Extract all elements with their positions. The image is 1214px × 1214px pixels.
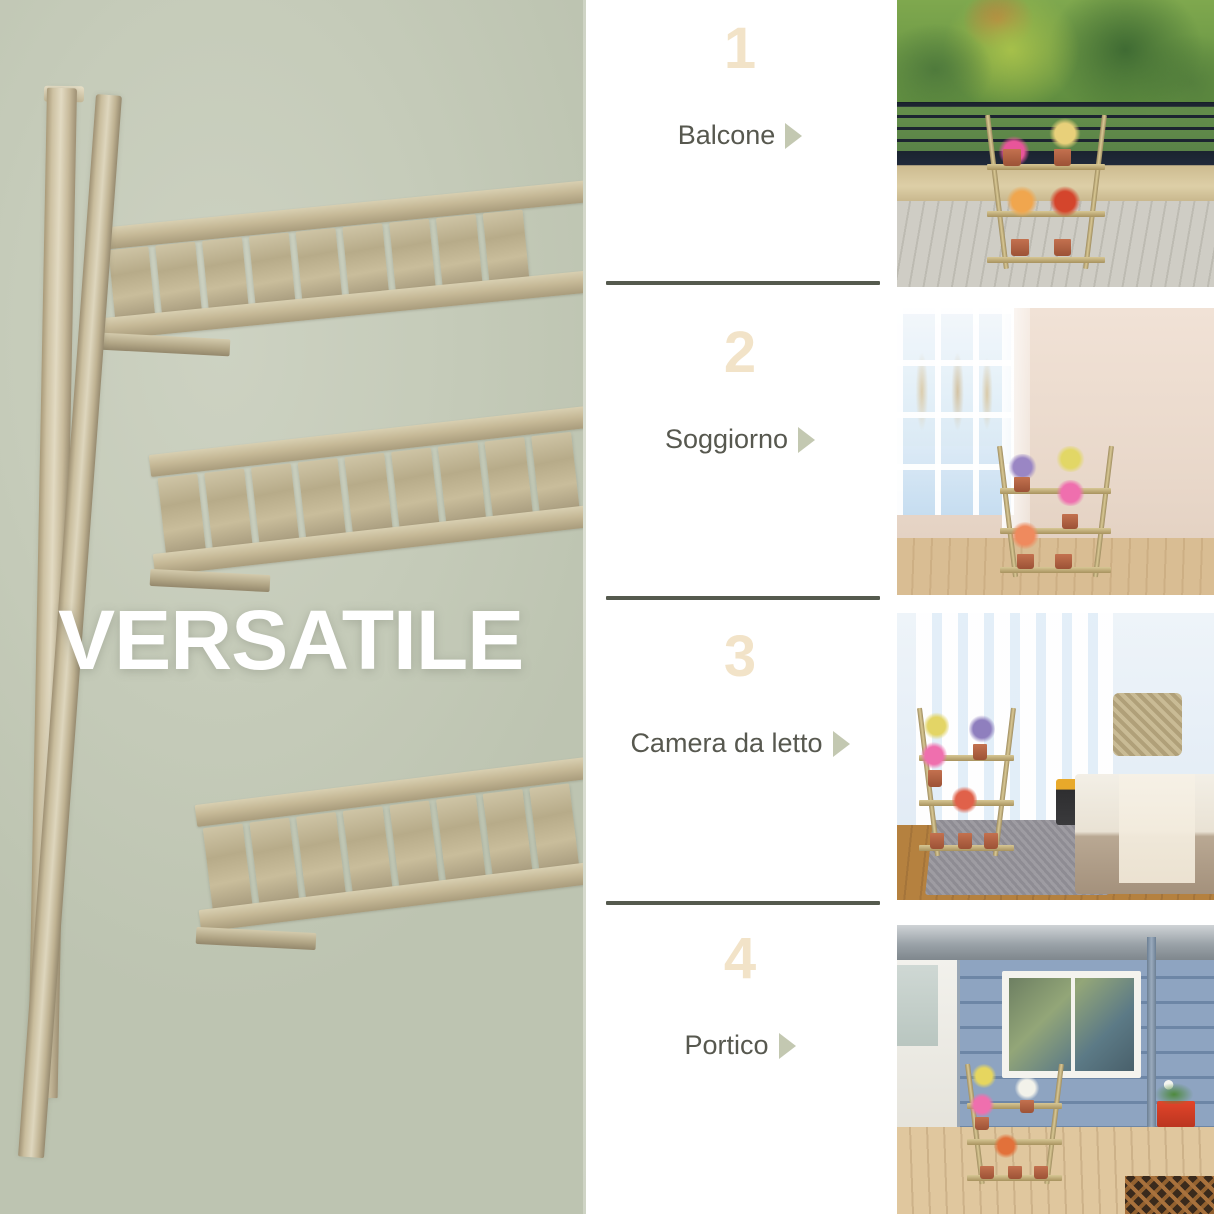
mini-leg: [1093, 445, 1114, 577]
usage-photo-column: [897, 0, 1214, 1214]
mini-pot: [1034, 1166, 1048, 1179]
slat: [155, 242, 202, 318]
mini-pot: [1003, 149, 1020, 166]
planter-foliage: [1147, 1072, 1201, 1104]
usage-label: Balcone: [678, 120, 776, 151]
slat: [158, 474, 207, 558]
slat: [251, 463, 300, 547]
usage-number: 2: [583, 324, 897, 382]
armchair: [1113, 693, 1183, 756]
hero-headline: VERSATILE: [58, 592, 523, 689]
mini-pot: [928, 770, 942, 786]
mini-flower: [969, 1093, 995, 1117]
mini-pot: [1054, 149, 1071, 166]
mini-pot: [930, 833, 944, 849]
slat: [391, 448, 440, 532]
mini-flower: [921, 741, 947, 771]
usage-row-4[interactable]: 4 Portico: [583, 910, 897, 1214]
mini-flower: [924, 711, 950, 741]
bed-throw: [1119, 774, 1195, 883]
usage-number: 3: [583, 628, 897, 686]
infographic-canvas: VERSATILE 1 Balcone 2 Soggiorno 3 Camera…: [0, 0, 1214, 1214]
stand-crossbar: [150, 569, 271, 592]
mini-plant-stand: [960, 1064, 1068, 1185]
mini-flower: [993, 1134, 1019, 1158]
stand-crossbar: [196, 927, 317, 950]
slat: [108, 246, 155, 322]
hero-product-panel: VERSATILE: [0, 0, 583, 1214]
slat: [342, 223, 389, 299]
mini-leg: [1083, 114, 1107, 268]
slat: [483, 789, 533, 879]
mini-flower: [1010, 522, 1040, 548]
mini-shelf: [987, 211, 1104, 217]
usage-label: Soggiorno: [665, 424, 788, 455]
slat: [436, 795, 486, 885]
slat: [389, 219, 436, 295]
mini-pot: [975, 1117, 989, 1130]
slat: [249, 818, 299, 908]
mini-plant-stand: [992, 446, 1119, 578]
mini-pot: [980, 1166, 994, 1179]
usage-photo-living-room[interactable]: [897, 308, 1214, 595]
mini-flower: [1014, 1076, 1040, 1100]
porch-roof: [897, 925, 1214, 960]
deck-lattice: [1125, 1176, 1214, 1214]
slat: [296, 812, 346, 902]
mini-pot: [1020, 1100, 1034, 1113]
usage-row-divider: [606, 281, 880, 285]
slat: [438, 442, 487, 526]
slat: [249, 233, 296, 309]
mini-pot: [1008, 1166, 1022, 1179]
mini-flower: [1055, 480, 1085, 506]
slat: [202, 237, 249, 313]
mini-flower: [1049, 118, 1081, 149]
play-triangle-right-icon: [785, 123, 802, 149]
mini-plant-stand: [979, 115, 1112, 270]
usage-photo-bedroom[interactable]: [897, 613, 1214, 900]
scene-bedroom: [897, 613, 1214, 900]
usage-photo-balcony[interactable]: [897, 0, 1214, 287]
slat: [344, 453, 393, 537]
play-triangle-right-icon: [833, 731, 850, 757]
mini-flower: [1006, 186, 1038, 217]
red-planter: [1157, 1101, 1195, 1127]
mini-pot: [1011, 239, 1028, 256]
mini-plant-stand: [913, 708, 1021, 857]
mini-pot: [1054, 239, 1071, 256]
usage-photo-porch[interactable]: [897, 925, 1214, 1214]
mini-pot: [958, 833, 972, 849]
slat: [436, 214, 483, 290]
mini-flower: [971, 1064, 997, 1088]
usage-label: Camera da letto: [630, 728, 822, 759]
mini-flower: [1055, 446, 1085, 472]
scene-porch: [897, 925, 1214, 1214]
porch-post: [1147, 937, 1156, 1139]
scene-balcony: [897, 0, 1214, 287]
mini-pot: [984, 833, 998, 849]
usage-label-wrap: Portico: [583, 1030, 897, 1061]
mini-pot: [1062, 514, 1078, 529]
play-triangle-right-icon: [798, 427, 815, 453]
door-glass: [897, 965, 938, 1046]
slat: [204, 469, 253, 553]
slat: [484, 437, 533, 521]
window-divider: [1071, 971, 1075, 1078]
usage-number: 4: [583, 930, 897, 988]
mini-flower: [1007, 454, 1037, 480]
slat: [203, 823, 253, 913]
usage-number: 1: [583, 20, 897, 78]
usage-label-wrap: Soggiorno: [583, 424, 897, 455]
mini-flower: [952, 785, 978, 815]
mini-pot: [1014, 477, 1030, 492]
usage-label: Portico: [684, 1030, 768, 1061]
slat: [531, 432, 580, 516]
scene-living-room: [897, 308, 1214, 595]
usage-row-1[interactable]: 1 Balcone: [583, 0, 897, 304]
mini-flower: [969, 714, 995, 744]
usage-label-wrap: Balcone: [583, 120, 897, 151]
usage-row-divider: [606, 596, 880, 600]
usage-label-wrap: Camera da letto: [583, 728, 897, 759]
slat: [343, 806, 393, 896]
mini-flower: [1049, 186, 1081, 217]
stand-crossbar: [100, 333, 231, 357]
mini-pot: [973, 744, 987, 760]
play-triangle-right-icon: [779, 1033, 796, 1059]
mini-pot: [1017, 554, 1033, 569]
slat: [483, 210, 530, 286]
usage-row-divider: [606, 901, 880, 905]
usage-row-2[interactable]: 2 Soggiorno: [583, 304, 897, 608]
slat: [529, 783, 579, 873]
slat: [296, 228, 343, 304]
mini-shelf: [987, 257, 1104, 263]
slat: [389, 801, 439, 891]
mini-pot: [1055, 554, 1071, 569]
slat: [298, 458, 347, 542]
usage-row-3[interactable]: 3 Camera da letto: [583, 608, 897, 912]
usage-label-column: 1 Balcone 2 Soggiorno 3 Camera da letto: [583, 0, 897, 1214]
